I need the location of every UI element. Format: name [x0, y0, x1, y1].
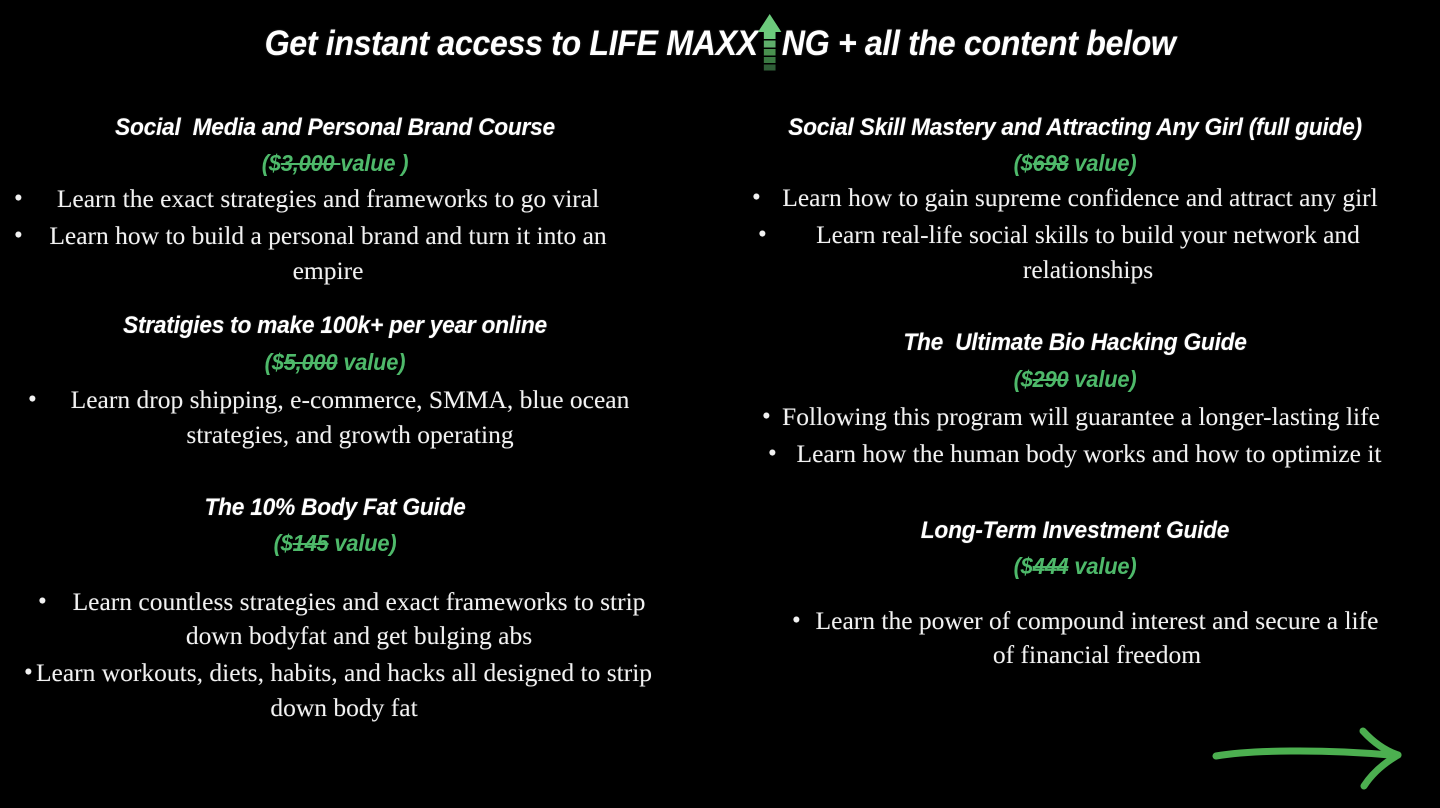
- offer-value: ($290 value): [766, 367, 1384, 392]
- offer-title: Social Skill Mastery and Attracting Any …: [773, 114, 1378, 142]
- list-item: •Learn how to build a personal brand and…: [10, 219, 660, 288]
- list-item-text: Learn workouts, diets, habits, and hacks…: [36, 658, 652, 722]
- list-item-text: Learn the exact strategies and framework…: [57, 184, 599, 213]
- list-item: •Learn real-life social skills to build …: [750, 218, 1400, 287]
- value-suffix: value): [329, 530, 397, 556]
- page-title-before: Get instant access to LIFE MAXX: [264, 24, 757, 63]
- offer-title: Social Media and Personal Brand Course: [33, 114, 638, 142]
- right-column: Social Skill Mastery and Attracting Any …: [720, 108, 1440, 808]
- offer-title: Long-Term Investment Guide: [773, 517, 1378, 545]
- value-prefix: ($: [274, 530, 293, 556]
- value-suffix: value ): [340, 150, 408, 176]
- value-prefix: ($: [1014, 553, 1033, 579]
- value-amount-struck: 290: [1033, 366, 1069, 392]
- bullet-marker: •: [758, 218, 767, 252]
- list-item: •Learn workouts, diets, habits, and hack…: [10, 656, 660, 725]
- value-amount-struck: 145: [293, 530, 329, 556]
- offer-bullets: •Following this program will guarantee a…: [750, 400, 1400, 471]
- offer-section-social-media: Social Media and Personal Brand Course (…: [10, 114, 660, 288]
- left-column: Social Media and Personal Brand Course (…: [0, 108, 720, 808]
- offer-title: The Ultimate Bio Hacking Guide: [773, 329, 1378, 357]
- list-item-text: Learn the power of compound interest and…: [816, 606, 1379, 670]
- list-item: •Learn drop shipping, e-commerce, SMMA, …: [10, 383, 660, 452]
- offer-bullets: •Learn how to gain supreme confidence an…: [750, 181, 1400, 287]
- value-amount-struck: 698: [1033, 150, 1069, 176]
- offer-bullets: •Learn drop shipping, e-commerce, SMMA, …: [10, 383, 660, 452]
- value-suffix: value): [1069, 366, 1137, 392]
- bullet-marker: •: [768, 437, 777, 471]
- bullet-marker: •: [792, 604, 801, 638]
- list-item-text: Learn how the human body works and how t…: [797, 439, 1382, 468]
- value-prefix: ($: [1014, 366, 1033, 392]
- value-prefix: ($: [262, 150, 281, 176]
- bullet-marker: •: [28, 383, 37, 417]
- bullet-marker: •: [752, 181, 761, 215]
- offer-title: The 10% Body Fat Guide: [33, 494, 638, 522]
- bullet-marker: •: [38, 585, 47, 619]
- slide-root: Get instant access to LIFE MAXX NG + all…: [0, 0, 1440, 808]
- offer-value: ($5,000 value): [26, 350, 644, 375]
- value-prefix: ($: [1014, 150, 1033, 176]
- list-item: •Learn how the human body works and how …: [750, 437, 1400, 472]
- value-suffix: value): [337, 349, 405, 375]
- right-arrow-icon: [1212, 724, 1412, 794]
- value-amount-struck: 5,000: [284, 349, 338, 375]
- value-amount-struck: 3,000: [281, 150, 341, 176]
- offer-bullets: •Learn countless strategies and exact fr…: [10, 585, 660, 726]
- bullet-marker: •: [762, 400, 771, 434]
- offer-value: ($145 value): [26, 531, 644, 556]
- bullet-marker: •: [14, 219, 23, 253]
- list-item-text: Learn countless strategies and exact fra…: [73, 587, 646, 651]
- list-item: •Learn the power of compound interest an…: [750, 604, 1400, 673]
- value-amount-struck: 444: [1033, 553, 1069, 579]
- list-item: •Learn how to gain supreme confidence an…: [750, 181, 1400, 216]
- offer-value: ($698 value): [766, 151, 1384, 176]
- list-item-text: Learn how to gain supreme confidence and…: [782, 183, 1377, 212]
- bullet-marker: •: [14, 182, 23, 216]
- offer-bullets: •Learn the exact strategies and framewor…: [10, 182, 660, 288]
- offer-value: ($3,000 value ): [26, 151, 644, 176]
- offer-section-social-skill: Social Skill Mastery and Attracting Any …: [750, 114, 1400, 287]
- offer-section-strategies-100k: Stratigies to make 100k+ per year online…: [10, 312, 660, 452]
- value-prefix: ($: [265, 349, 284, 375]
- offer-title: Stratigies to make 100k+ per year online: [33, 312, 638, 340]
- list-item-text: Following this program will guarantee a …: [782, 402, 1380, 431]
- list-item: •Learn the exact strategies and framewor…: [10, 182, 660, 217]
- offer-value: ($444 value): [766, 554, 1384, 579]
- list-item-text: Learn how to build a personal brand and …: [49, 221, 606, 285]
- list-item-text: Learn real-life social skills to build y…: [816, 220, 1360, 284]
- up-arrow-icon: [757, 23, 782, 63]
- page-title-after: NG + all the content below: [782, 24, 1176, 63]
- list-item-text: Learn drop shipping, e-commerce, SMMA, b…: [71, 385, 630, 449]
- offer-bullets: •Learn the power of compound interest an…: [750, 604, 1400, 673]
- offer-section-investment: Long-Term Investment Guide ($444 value) …: [750, 517, 1400, 673]
- bullet-marker: •: [24, 656, 33, 690]
- page-title-text: Get instant access to LIFE MAXX NG + all…: [264, 23, 1175, 64]
- list-item: •Learn countless strategies and exact fr…: [10, 585, 660, 654]
- value-suffix: value): [1069, 150, 1137, 176]
- value-suffix: value): [1069, 553, 1137, 579]
- content-columns: Social Media and Personal Brand Course (…: [0, 108, 1440, 808]
- offer-section-body-fat: The 10% Body Fat Guide ($145 value) •Lea…: [10, 494, 660, 725]
- list-item: •Following this program will guarantee a…: [750, 400, 1400, 435]
- page-title: Get instant access to LIFE MAXX NG + all…: [0, 8, 1440, 78]
- offer-section-bio-hacking: The Ultimate Bio Hacking Guide ($290 val…: [750, 329, 1400, 471]
